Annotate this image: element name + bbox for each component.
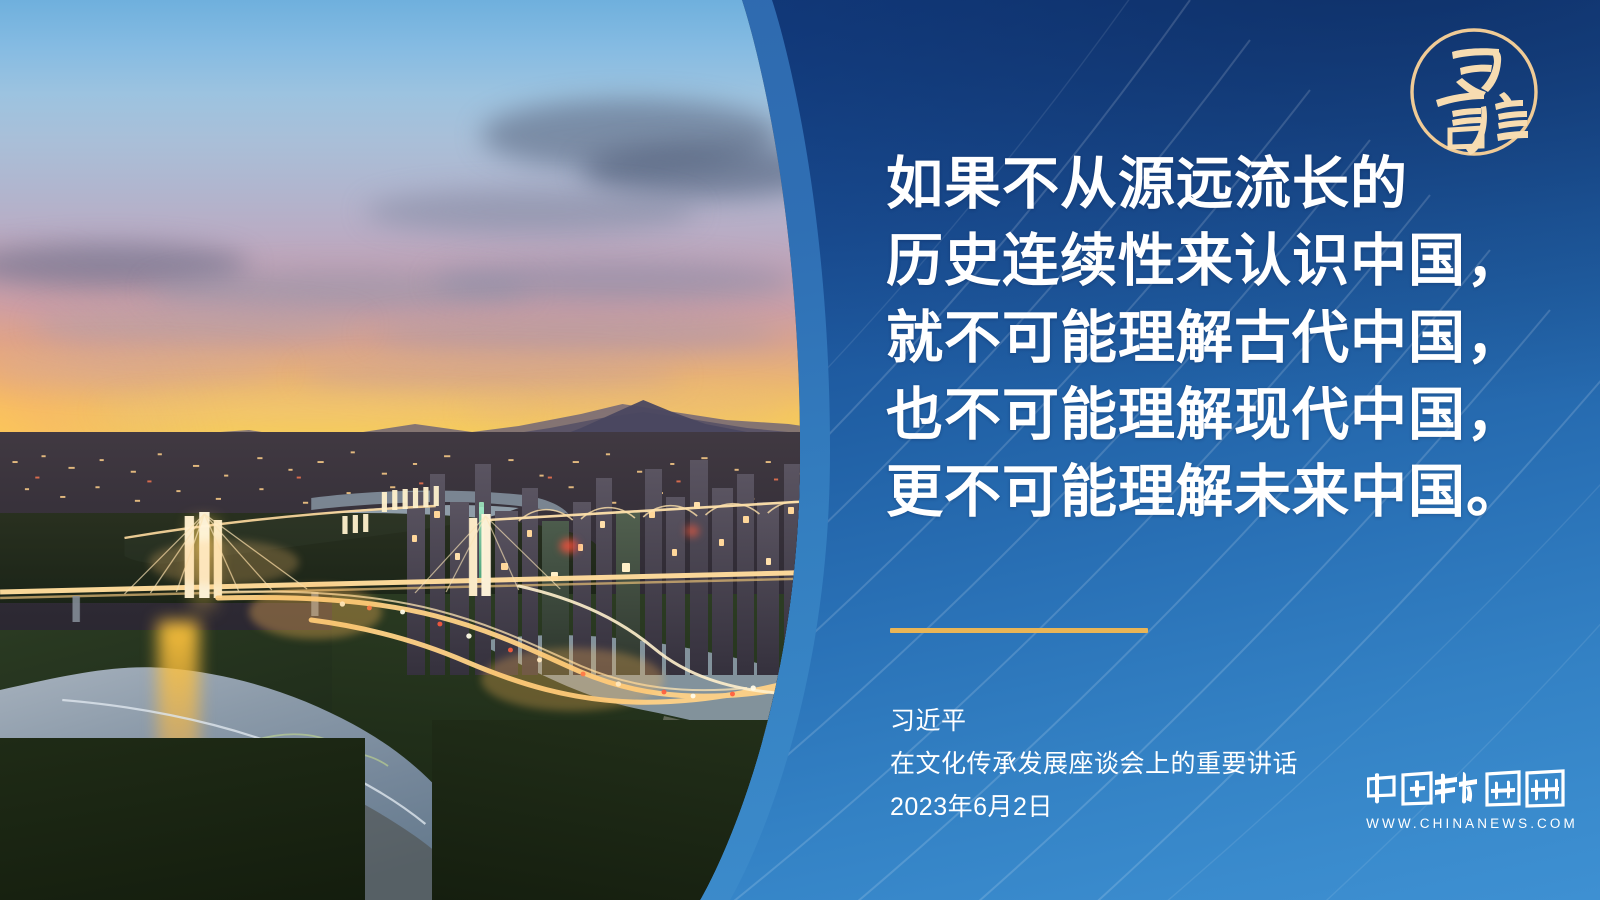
attribution-block: 习近平 在文化传承发展座谈会上的重要讲话 2023年6月2日 [890,700,1298,829]
chinanews-url: WWW.CHINANEWS.COM [1365,816,1579,831]
xi-yan-dao-seal [1400,18,1548,166]
chinanews-wordmark [1367,762,1577,812]
quote-line: 如果不从源远流长的 [886,146,1586,223]
gold-rule [890,628,1148,633]
quote-line: 也不可能理解现代中国， [886,377,1586,454]
attribution-occasion: 在文化传承发展座谈会上的重要讲话 [890,743,1298,786]
attribution-speaker: 习近平 [890,700,1298,743]
poster-canvas: 如果不从源远流长的 历史连续性来认识中国， 就不可能理解古代中国， 也不可能理解… [0,0,1600,900]
foreground-trees [0,738,365,900]
cityscape-photo [0,0,830,900]
attribution-date: 2023年6月2日 [890,786,1298,829]
quote-line: 更不可能理解未来中国。 [886,454,1586,531]
quote-line: 就不可能理解古代中国， [886,300,1586,377]
quote-block: 如果不从源远流长的 历史连续性来认识中国， 就不可能理解古代中国， 也不可能理解… [886,146,1586,531]
chinanews-logo: WWW.CHINANEWS.COM [1365,762,1579,831]
quote-line: 历史连续性来认识中国， [886,223,1586,300]
